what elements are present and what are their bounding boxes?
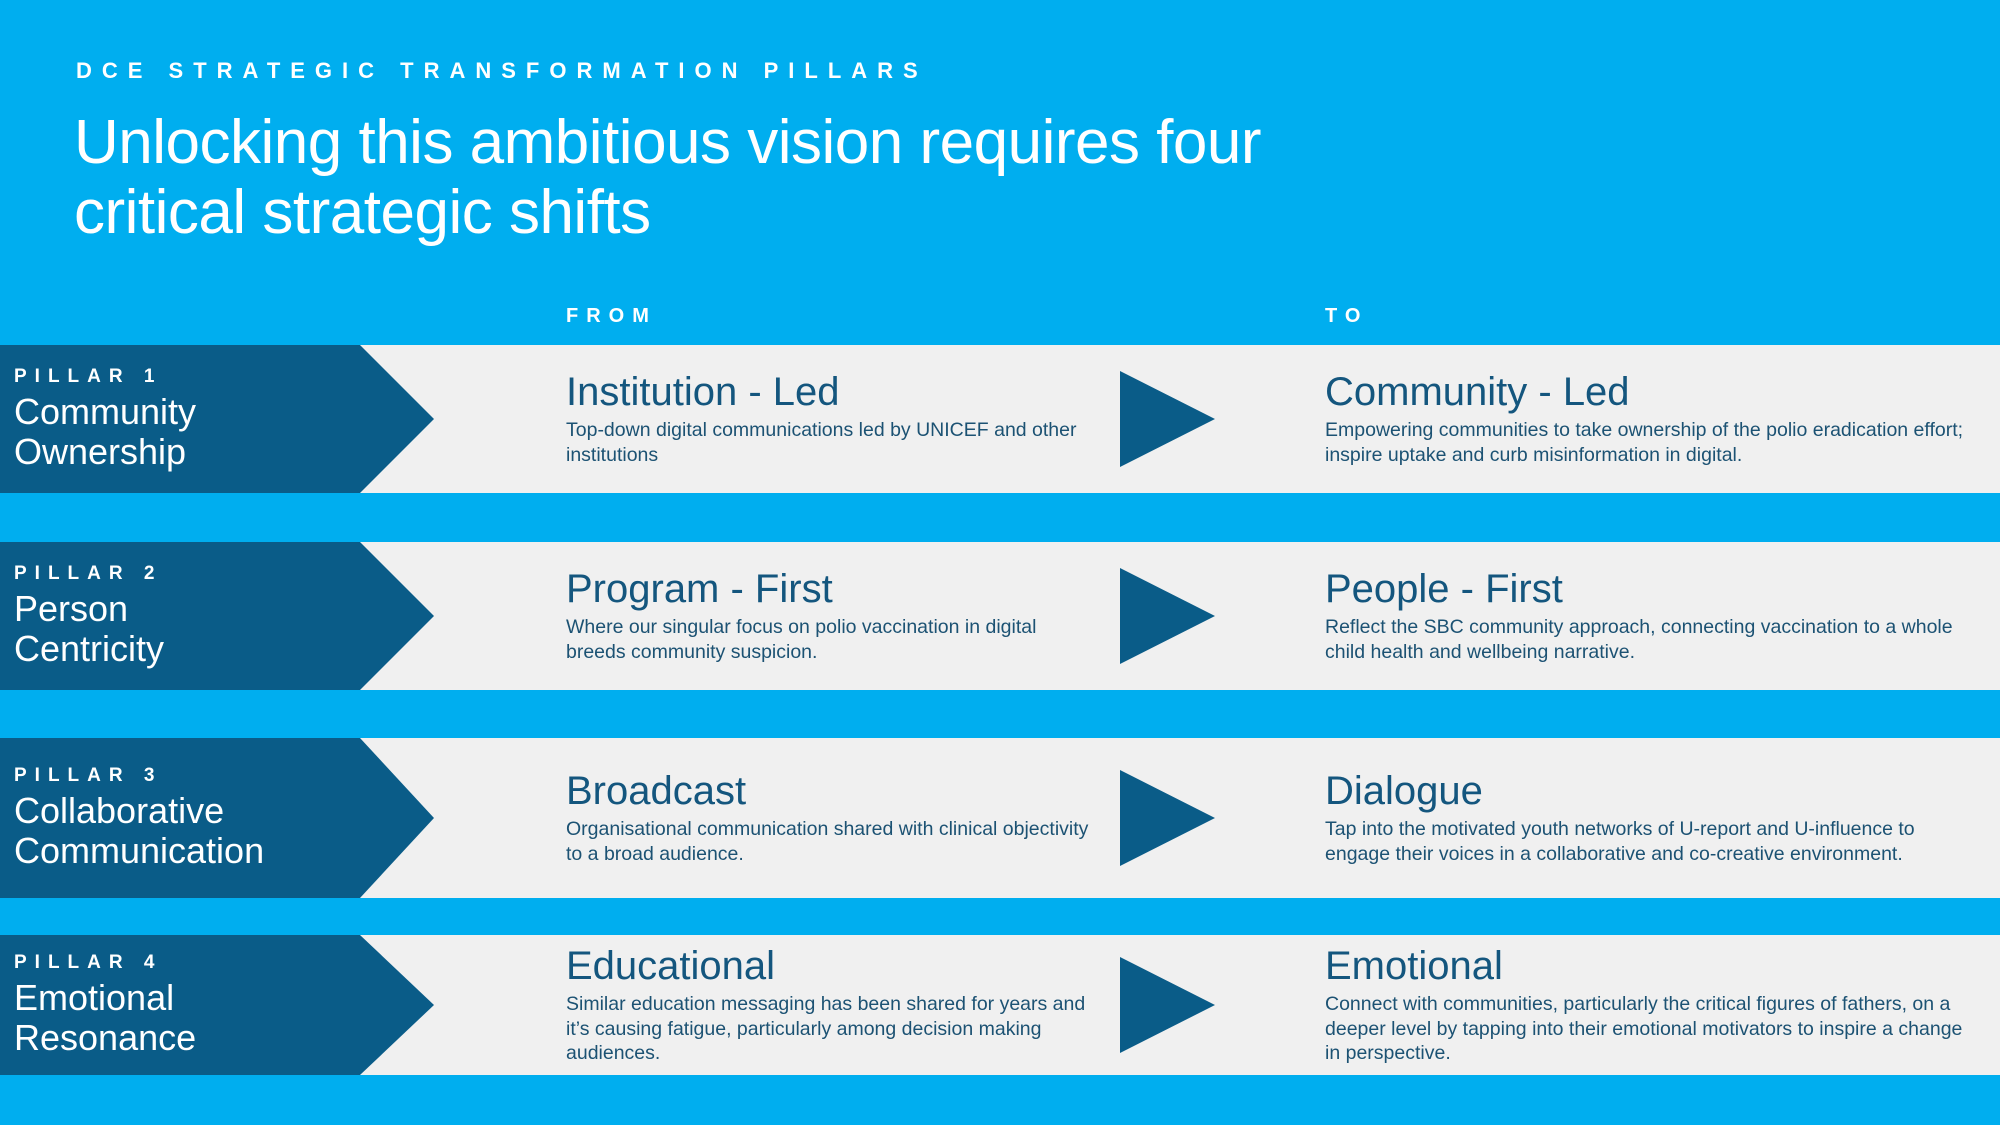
pillar-row: PILLAR 1 Community Ownership Institution… (0, 345, 2000, 493)
from-title: Educational (566, 944, 1096, 988)
pillar-number-label: PILLAR 1 (14, 366, 434, 388)
pillar-row: PILLAR 3 Collaborative Communication Bro… (0, 738, 2000, 898)
to-cell: Community - Led Empowering communities t… (1325, 345, 1973, 493)
from-title: Program - First (566, 567, 1096, 611)
column-header-from: FROM (566, 305, 657, 328)
pillar-number-label: PILLAR 2 (14, 563, 434, 585)
from-description: Where our singular focus on polio vaccin… (566, 615, 1096, 665)
from-cell: Institution - Led Top-down digital commu… (566, 345, 1096, 493)
pillar-name-line-2: Communication (14, 831, 434, 871)
pillar-chevron-banner: PILLAR 1 Community Ownership (0, 345, 434, 493)
arrow-right-triangle-icon (1120, 568, 1215, 664)
pillar-name-line-1: Collaborative (14, 791, 434, 831)
eyebrow-label: DCE STRATEGIC TRANSFORMATION PILLARS (76, 58, 928, 84)
to-description: Connect with communities, particularly t… (1325, 992, 1973, 1067)
to-title: Dialogue (1325, 769, 1973, 813)
pillar-name-line-2: Resonance (14, 1018, 434, 1058)
to-description: Tap into the motivated youth networks of… (1325, 817, 1973, 867)
to-description: Empowering communities to take ownership… (1325, 418, 1973, 468)
arrow-right-triangle-icon (1120, 770, 1215, 866)
from-cell: Broadcast Organisational communication s… (566, 738, 1096, 898)
from-title: Institution - Led (566, 370, 1096, 414)
pillar-name-line-1: Person (14, 589, 434, 629)
pillar-chevron-banner: PILLAR 4 Emotional Resonance (0, 935, 434, 1075)
from-title: Broadcast (566, 769, 1096, 813)
headline-line-2: critical strategic shifts (74, 178, 1524, 248)
pillar-number-label: PILLAR 3 (14, 765, 434, 787)
from-cell: Program - First Where our singular focus… (566, 542, 1096, 690)
headline-line-1: Unlocking this ambitious vision requires… (74, 108, 1261, 177)
to-title: Emotional (1325, 944, 1973, 988)
pillar-name-line-2: Ownership (14, 432, 434, 472)
pillar-number-label: PILLAR 4 (14, 952, 434, 974)
pillar-name-line-1: Emotional (14, 978, 434, 1018)
from-description: Similar education messaging has been sha… (566, 992, 1096, 1067)
from-description: Top-down digital communications led by U… (566, 418, 1096, 468)
to-title: People - First (1325, 567, 1973, 611)
to-cell: People - First Reflect the SBC community… (1325, 542, 1973, 690)
arrow-right-triangle-icon (1120, 371, 1215, 467)
to-cell: Emotional Connect with communities, part… (1325, 935, 1973, 1075)
arrow-right-triangle-icon (1120, 957, 1215, 1053)
to-title: Community - Led (1325, 370, 1973, 414)
page-title: Unlocking this ambitious vision requires… (74, 108, 1524, 248)
pillar-chevron-banner: PILLAR 3 Collaborative Communication (0, 738, 434, 898)
from-description: Organisational communication shared with… (566, 817, 1096, 867)
pillar-name-line-2: Centricity (14, 629, 434, 669)
column-header-to: TO (1325, 305, 1368, 328)
to-cell: Dialogue Tap into the motivated youth ne… (1325, 738, 1973, 898)
pillar-chevron-banner: PILLAR 2 Person Centricity (0, 542, 434, 690)
to-description: Reflect the SBC community approach, conn… (1325, 615, 1973, 665)
pillar-row: PILLAR 4 Emotional Resonance Educational… (0, 935, 2000, 1075)
pillar-row: PILLAR 2 Person Centricity Program - Fir… (0, 542, 2000, 690)
slide-canvas: DCE STRATEGIC TRANSFORMATION PILLARS Unl… (0, 0, 2000, 1125)
from-cell: Educational Similar education messaging … (566, 935, 1096, 1075)
pillar-name-line-1: Community (14, 392, 434, 432)
